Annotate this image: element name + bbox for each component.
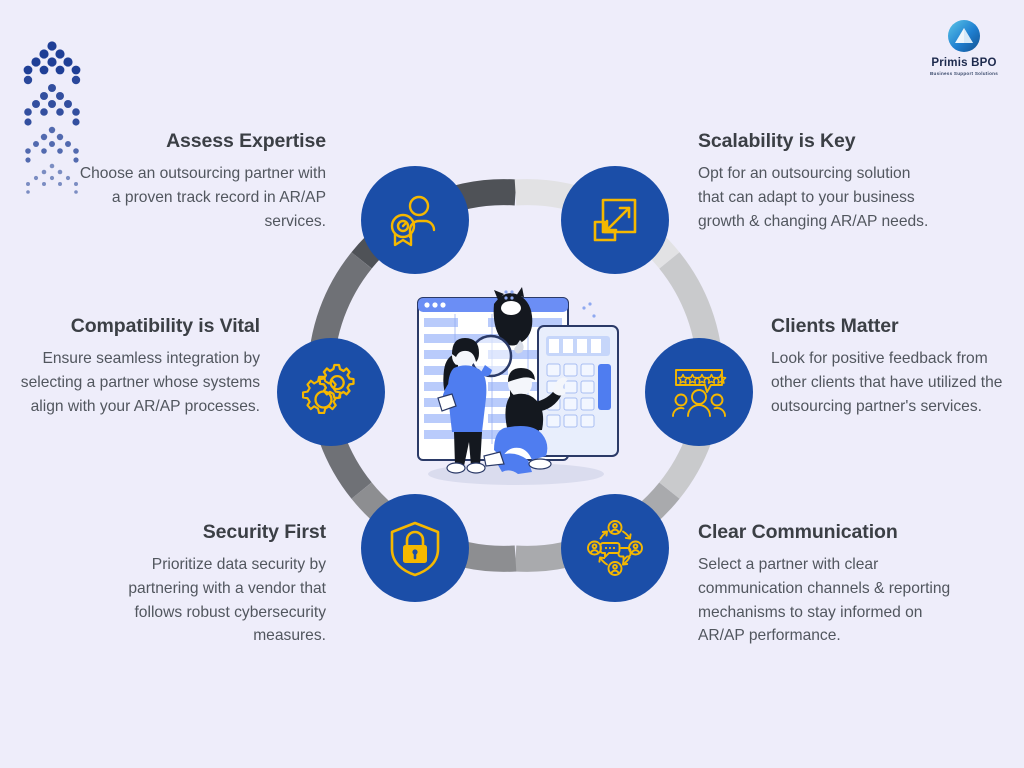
- step-title: Scalability is Key: [698, 130, 938, 153]
- step-text-assess-expertise: Assess Expertise Choose an outsourcing p…: [78, 130, 326, 233]
- step-title: Security First: [80, 521, 326, 544]
- step-text-clients-matter: Clients Matter Look for positive feedbac…: [771, 315, 1019, 418]
- triangle-in-circle-logo-icon: [946, 18, 982, 54]
- shield-padlock-icon: [386, 519, 444, 577]
- infographic-canvas: Primis BPO Business Support Solutions: [0, 0, 1024, 768]
- step-title: Clear Communication: [698, 521, 966, 544]
- step-body: Look for positive feedback from other cl…: [771, 347, 1019, 418]
- step-body: Prioritize data security by partnering w…: [80, 553, 326, 648]
- step-title: Compatibility is Vital: [14, 315, 260, 338]
- step-title: Assess Expertise: [78, 130, 326, 153]
- icon-bubble-clear-communication[interactable]: [561, 494, 669, 602]
- brand-logo: Primis BPO Business Support Solutions: [918, 18, 1010, 76]
- icon-bubble-clients-matter[interactable]: [645, 338, 753, 446]
- icon-bubble-compatibility[interactable]: [277, 338, 385, 446]
- step-text-security-first: Security First Prioritize data security …: [80, 521, 326, 648]
- step-text-compatibility-is-vital: Compatibility is Vital Ensure seamless i…: [14, 315, 260, 418]
- icon-bubble-assess-expertise[interactable]: [361, 166, 469, 274]
- step-text-scalability-is-key: Scalability is Key Opt for an outsourcin…: [698, 130, 938, 233]
- icon-bubble-scalability[interactable]: [561, 166, 669, 274]
- step-title: Clients Matter: [771, 315, 1019, 338]
- logo-name: Primis BPO: [918, 57, 1010, 70]
- icon-bubble-security-first[interactable]: [361, 494, 469, 602]
- resize-expand-arrow-icon: [587, 192, 643, 248]
- step-body: Ensure seamless integration by selecting…: [14, 347, 260, 418]
- person-award-badge-icon: [386, 191, 444, 249]
- interlocking-gears-icon: [302, 363, 360, 421]
- step-body: Select a partner with clear communicatio…: [698, 553, 966, 648]
- step-text-clear-communication: Clear Communication Select a partner wit…: [698, 521, 966, 648]
- step-body: Opt for an outsourcing solution that can…: [698, 162, 938, 233]
- step-body: Choose an outsourcing partner with a pro…: [78, 162, 326, 233]
- logo-tagline: Business Support Solutions: [918, 71, 1010, 76]
- five-star-review-group-icon: [670, 363, 728, 421]
- ar-ap-analysis-illustration: [398, 278, 630, 498]
- user-network-chat-icon: [586, 519, 644, 577]
